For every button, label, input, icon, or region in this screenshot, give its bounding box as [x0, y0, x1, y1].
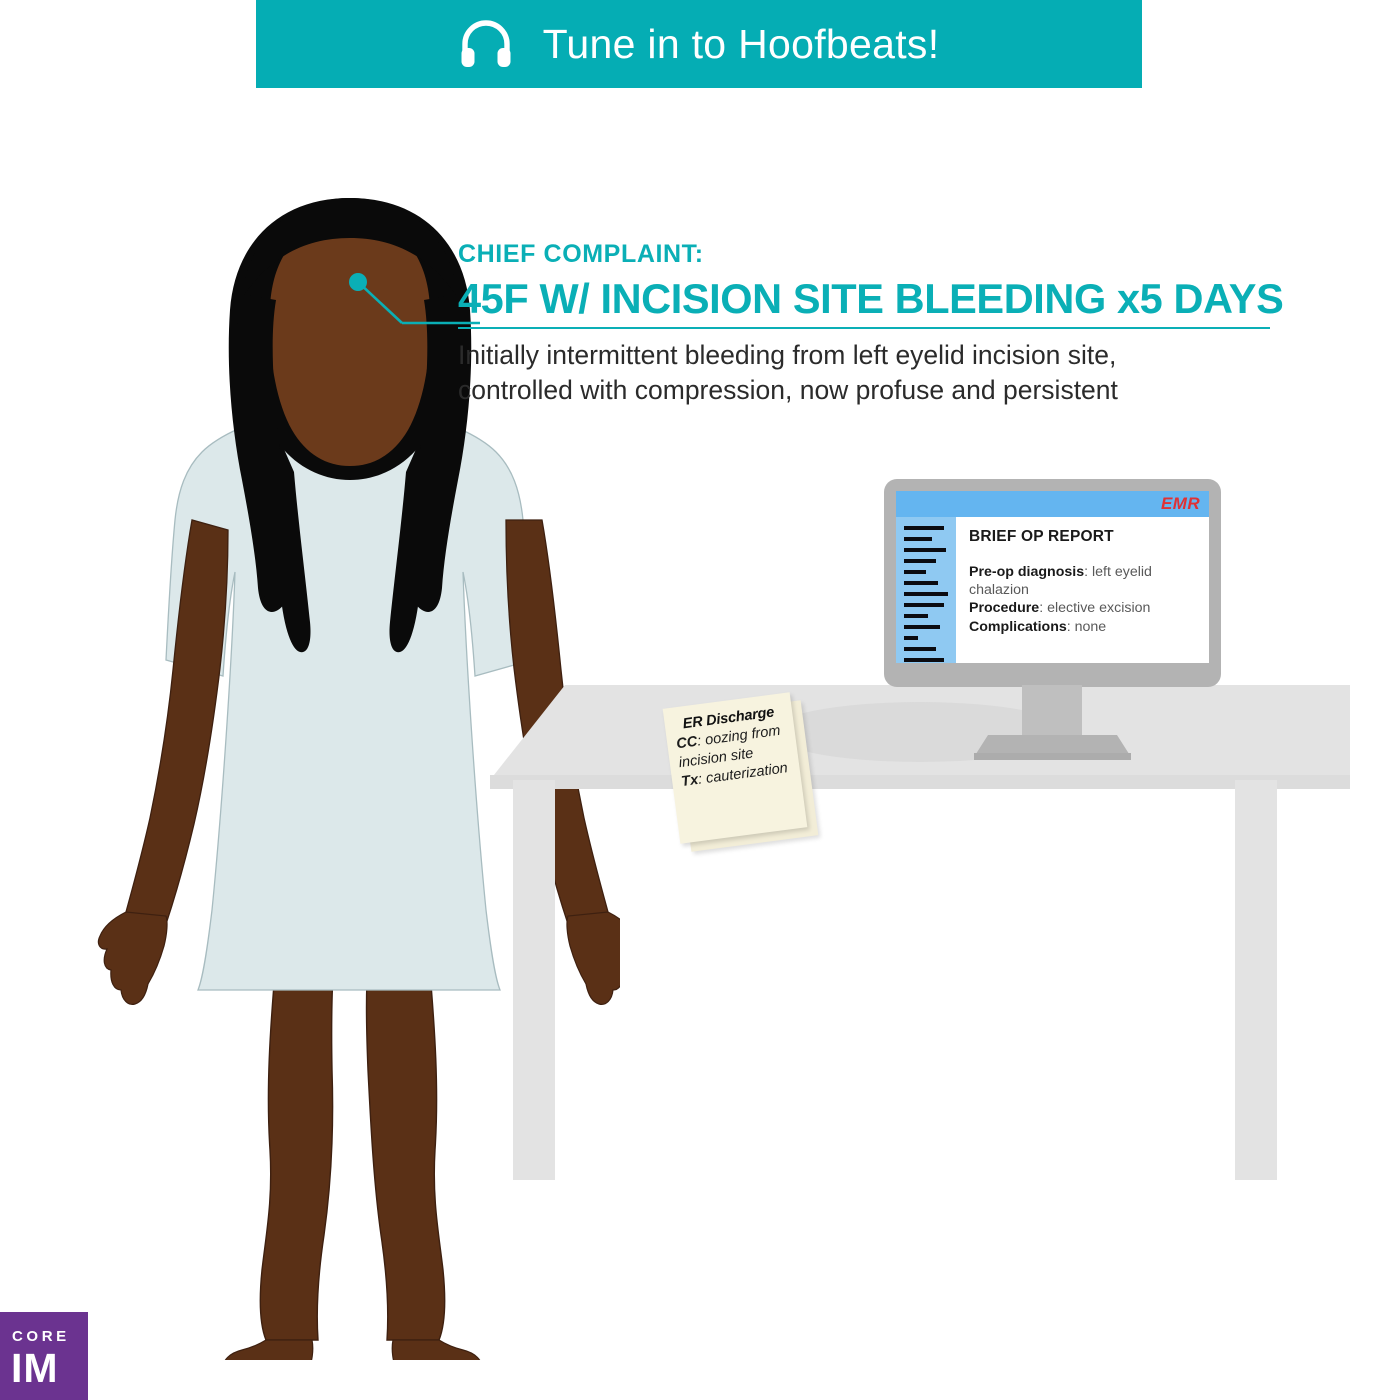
desk-leg-left: [513, 780, 555, 1180]
sidebar-bar: [904, 570, 926, 574]
report-field-value: : elective excision: [1039, 600, 1150, 616]
desk-leg-right: [1235, 780, 1277, 1180]
report-field-complications: Complications: none: [969, 618, 1201, 636]
sidebar-bar: [904, 614, 928, 618]
emr-titlebar: EMR: [896, 491, 1209, 517]
sidebar-bar: [904, 581, 938, 585]
sidebar-bar: [904, 559, 936, 563]
header-banner: Tune in to Hoofbeats!: [256, 0, 1142, 88]
report-field-label: Pre-op diagnosis: [969, 564, 1084, 580]
chief-complaint-callout: CHIEF COMPLAINT: 45F W/ INCISION SITE BL…: [458, 240, 1270, 408]
sidebar-bar: [904, 537, 932, 541]
report-title: BRIEF OP REPORT: [969, 528, 1201, 546]
report-field-procedure: Procedure: elective excision: [969, 599, 1201, 617]
banner-title: Tune in to Hoofbeats!: [543, 21, 940, 68]
callout-divider: [458, 327, 1270, 329]
report-field-preop: Pre-op diagnosis: left eyelid chalazion: [969, 563, 1201, 599]
report-field-label: Procedure: [969, 600, 1039, 616]
chief-complaint-label: CHIEF COMPLAINT:: [458, 240, 1270, 269]
core-im-logo: CORE IM: [0, 1312, 88, 1400]
er-discharge-note: ER Discharge CC: oozing from incision si…: [660, 692, 850, 862]
desk-apron: [490, 775, 1350, 789]
logo-core-text: CORE: [12, 1328, 70, 1345]
emr-label: EMR: [1161, 494, 1200, 514]
report-fields: Pre-op diagnosis: left eyelid chalazion …: [969, 563, 1201, 636]
chief-complaint-body: Initially intermittent bleeding from lef…: [458, 338, 1218, 408]
emr-sidebar[interactable]: [896, 517, 956, 663]
sidebar-bar: [904, 647, 936, 651]
note-cc-label: CC: [675, 734, 698, 753]
sidebar-bar: [904, 603, 944, 607]
pointer-dot: [349, 273, 367, 291]
note-tx-label: Tx: [680, 772, 699, 790]
headphones-icon: [459, 20, 513, 68]
chief-complaint-headline: 45F W/ INCISION SITE BLEEDING x5 DAYS: [458, 275, 1270, 323]
sidebar-bar: [904, 625, 940, 629]
sidebar-bar: [904, 636, 918, 640]
report-field-label: Complications: [969, 619, 1067, 635]
sidebar-bar: [904, 548, 946, 552]
sidebar-bar: [904, 526, 944, 530]
logo-im-text: IM: [11, 1345, 59, 1392]
emr-report-pane: BRIEF OP REPORT Pre-op diagnosis: left e…: [956, 517, 1209, 663]
sidebar-bar: [904, 658, 944, 662]
infographic-canvas: Tune in to Hoofbeats!: [0, 0, 1400, 1400]
emr-screen: EMR BRIEF OP REPORT Pre-op d: [896, 491, 1209, 663]
note-sheet-front: ER Discharge CC: oozing from incision si…: [663, 692, 808, 844]
report-field-value: : none: [1067, 619, 1106, 635]
sidebar-bar: [904, 592, 948, 596]
feet: [223, 1340, 482, 1360]
emr-monitor: EMR BRIEF OP REPORT Pre-op d: [880, 477, 1225, 762]
legs: [260, 960, 444, 1340]
hospital-gown: [166, 412, 532, 990]
